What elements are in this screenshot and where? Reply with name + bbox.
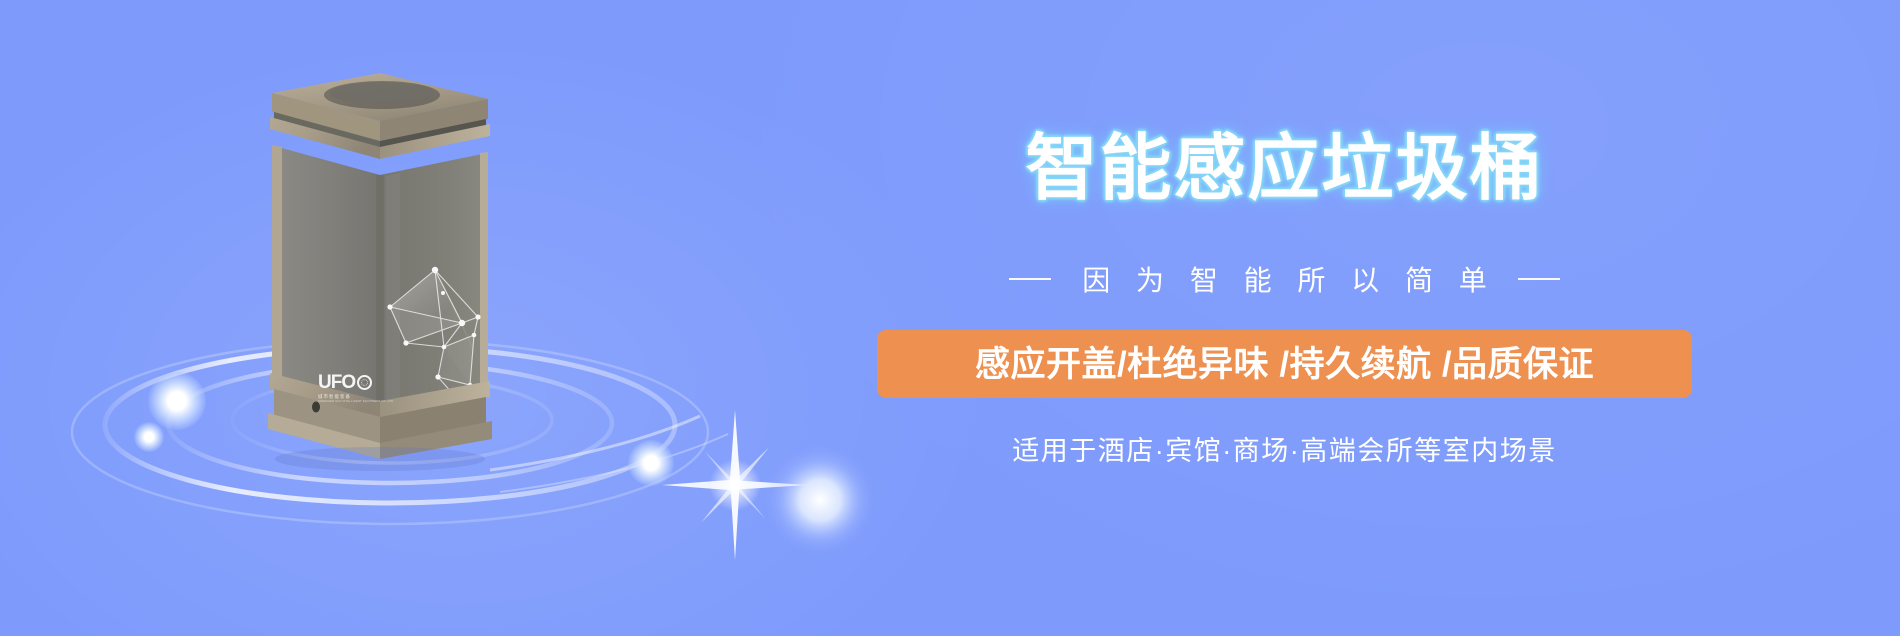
copy-block: 智能感应垃圾桶 因 为 智 能 所 以 简 单 感应开盖/杜绝异味 /持久续航 … (877, 0, 1777, 636)
subline-rule-right (1518, 278, 1560, 280)
headline: 智能感应垃圾桶 (877, 133, 1692, 205)
promo-banner: UFO 城市智能装备 SHENZHEN UFO INTELLIGENT EQUI… (0, 0, 1900, 636)
subline: 因 为 智 能 所 以 简 单 (877, 259, 1692, 299)
scenes-line: 适用于酒店·宾馆·商场·高端会所等室内场景 (877, 435, 1692, 467)
subline-rule-left (1009, 278, 1051, 280)
product-trash-can: UFO 城市智能装备 SHENZHEN UFO INTELLIGENT EQUI… (230, 55, 490, 425)
feature-bar-text: 感应开盖/杜绝异味 /持久续航 /品质保证 (975, 347, 1594, 382)
feature-bar: 感应开盖/杜绝异味 /持久续航 /品质保证 (877, 330, 1692, 398)
product-scene: UFO 城市智能装备 SHENZHEN UFO INTELLIGENT EQUI… (60, 0, 840, 636)
subline-text: 因 为 智 能 所 以 简 单 (1073, 259, 1495, 299)
